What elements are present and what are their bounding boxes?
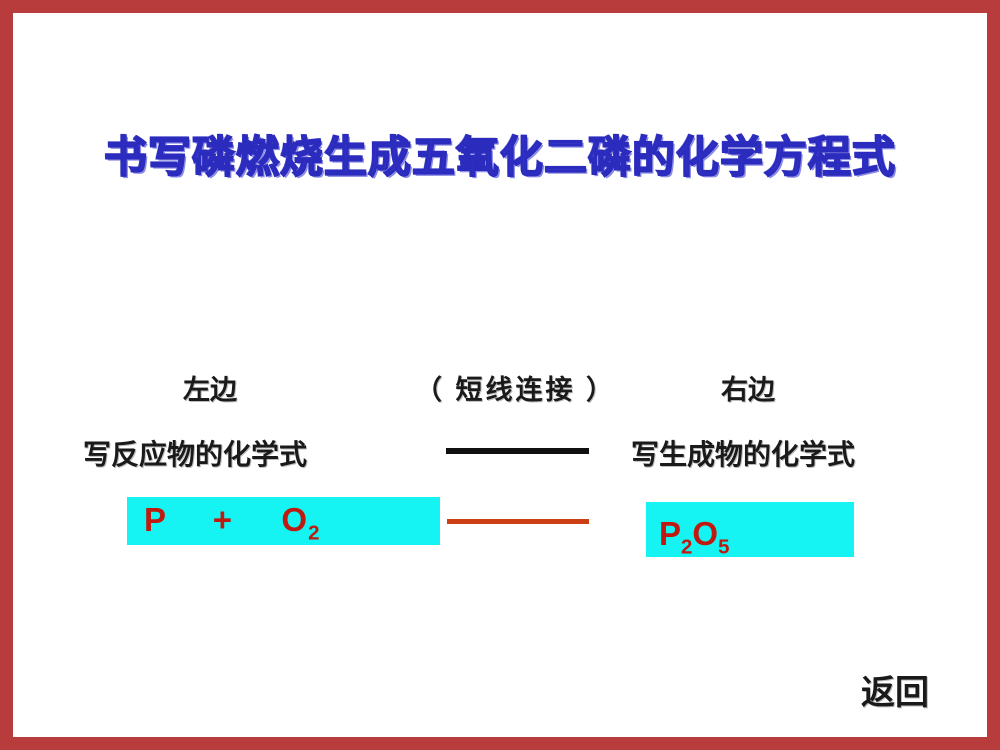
label-short-line-connector: （ 短线连接 ） bbox=[415, 368, 616, 407]
reactant-oxygen-subscript: 2 bbox=[308, 522, 320, 545]
label-right-side: 右边 bbox=[721, 368, 775, 407]
reactant-species-phosphorus: P bbox=[144, 501, 166, 538]
product-phosphorus-subscript: 2 bbox=[681, 536, 692, 559]
label-left-side: 左边 bbox=[183, 368, 237, 407]
description-row: 写反应物的化学式 写生成物的化学式 bbox=[13, 433, 987, 477]
return-button[interactable]: 返回 bbox=[861, 665, 929, 714]
reactants-highlight-box: P + O2 bbox=[127, 497, 440, 545]
side-labels-row: 左边 （ 短线连接 ） 右边 bbox=[13, 368, 987, 408]
reactant-species-oxygen: O bbox=[281, 501, 308, 538]
product-element-oxygen: O bbox=[692, 515, 718, 552]
products-formula: P2O5 bbox=[659, 517, 729, 558]
slide-canvas: 书写磷燃烧生成五氧化二磷的化学方程式 左边 （ 短线连接 ） 右边 写反应物的化… bbox=[0, 0, 1000, 750]
product-element-phosphorus: P bbox=[659, 515, 681, 552]
description-reactant-formula: 写反应物的化学式 bbox=[83, 433, 307, 473]
red-connector-line-icon bbox=[447, 519, 589, 524]
products-highlight-box: P2O5 bbox=[646, 502, 854, 557]
black-connector-line-icon bbox=[446, 448, 589, 454]
page-title: 书写磷燃烧生成五氧化二磷的化学方程式 bbox=[13, 135, 987, 182]
plus-sign: + bbox=[213, 501, 233, 538]
reactants-formula: P + O2 bbox=[144, 503, 320, 544]
product-oxygen-subscript: 5 bbox=[718, 536, 729, 559]
description-product-formula: 写生成物的化学式 bbox=[631, 433, 855, 473]
